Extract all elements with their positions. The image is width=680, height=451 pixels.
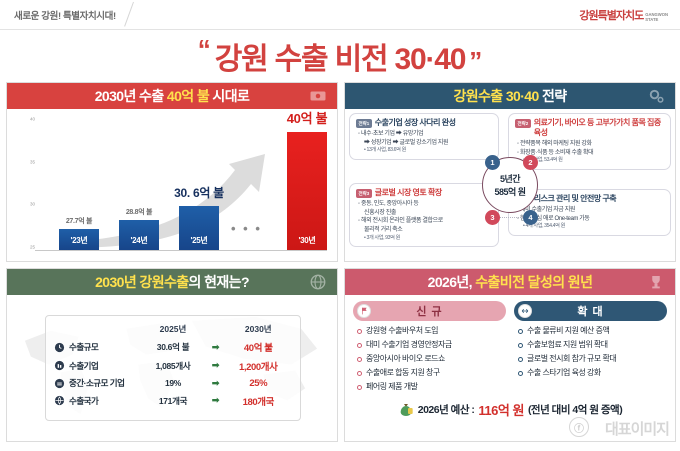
logo-en-line1: GANGWON: [645, 12, 668, 17]
strategy-bullet: ◦ 전략품목 해외 마케팅 지원 강화: [515, 140, 664, 149]
year2026-header-accent: 수출비전 달성의 원년: [475, 274, 592, 290]
chart-panel-header: 2030년 수출 40억 불 시대로: [7, 83, 337, 109]
table-row: 수출규모30.6억 불➡40억 불: [54, 340, 292, 354]
strategy-header-accent: 강원수출 30·40: [453, 88, 538, 104]
chart-header-text: 2030년 수출 40억 불 시대로: [95, 86, 250, 106]
quote-open-icon: “: [198, 40, 211, 58]
bar-value-label: 30. 6억 불: [164, 184, 234, 201]
chart-body: 40353025 '23년27.7억 불'24년28.8억 불'25년30. 6…: [7, 109, 337, 261]
watermark-text: 대표이미지: [605, 418, 669, 439]
strategy-badge: 전략3: [356, 189, 372, 198]
year2026-column-1: 신 규강원형 수출바우처 도입대미 수출기업 경영안정자금중앙아시아 바이오 로…: [353, 301, 506, 396]
strategy-bullet: • 4개 사업, 354.4억 원: [515, 223, 664, 231]
list-item: 수출 스타기업 육성 강화: [518, 368, 667, 378]
bullet-dot-icon: [357, 357, 362, 362]
chart-y-axis: 40353025: [15, 119, 35, 247]
panel-current-status: 2030년 강원수출의 현재는? 2025년 2030년 수출규모30.6억 불…: [6, 268, 338, 442]
row-goal-value: 180개국: [225, 394, 293, 408]
strategy-bullet: • 3개 사업, 93억 원: [356, 235, 492, 243]
strategy-badge: 전략1: [356, 119, 372, 128]
row-arrow-icon: ➡: [207, 342, 225, 353]
budget-amount: 116억 원: [478, 400, 524, 419]
bar-25y: '25년: [179, 206, 219, 250]
bar-value-label: 40억 불: [272, 108, 338, 127]
year2026-header-text: 2026년, 수출비전 달성의 원년: [428, 272, 593, 292]
flag-icon: [357, 304, 371, 318]
chart-header-suffix: 시대로: [209, 88, 249, 104]
page-title: “ 강원 수출 비전 30·40 ”: [0, 30, 680, 82]
page-title-text: 강원 수출 비전 30·40: [215, 34, 466, 78]
strategy-number-2: 2: [523, 155, 538, 170]
panel-grid: 2030년 수출 40억 불 시대로 40353025 '23년27.7억 불'…: [0, 82, 680, 442]
strategy-header-text: 강원수출 30·40 전략: [453, 86, 566, 106]
column-header-2: 확 대: [514, 301, 667, 321]
list-item: 중앙아시아 바이오 로드쇼: [357, 354, 506, 364]
list-item: 글로벌 전시회 참가 규모 확대: [518, 354, 667, 364]
expand-icon: [518, 304, 532, 318]
list-item: 강원형 수출바우처 도입: [357, 326, 506, 336]
list-item-label: 수출애로 합동 지원 창구: [366, 368, 440, 378]
row-arrow-icon: ➡: [207, 395, 225, 406]
watermark-mark: ⓕ: [569, 417, 589, 437]
budget-prefix: 2026년 예산 :: [418, 402, 475, 417]
list-item-label: 페어링 제품 개발: [366, 382, 417, 392]
current-header-suffix: 의 현재는?: [189, 274, 249, 290]
trophy-icon: [647, 273, 665, 291]
bullet-dot-icon: [518, 343, 523, 348]
column-title: 신 규: [416, 303, 442, 319]
strategy-bullet: 신흥시장 진출: [356, 209, 492, 218]
row-label-cell: 수출기업: [54, 360, 139, 372]
chart-icon: [54, 378, 65, 389]
logo-english-text: GANGWON STATE: [645, 12, 668, 24]
bullet-dot-icon: [518, 371, 523, 376]
clock-icon: [54, 342, 65, 353]
globe-icon: [309, 273, 327, 291]
strategy-number-3: 3: [485, 210, 500, 225]
list-item-label: 강원형 수출바우처 도입: [366, 326, 438, 336]
column-header-1: 신 규: [353, 301, 506, 321]
row-label-cell: 수출규모: [54, 341, 139, 353]
top-bar: 새로운 강원! 특별자치시대! 강원특별자치도 GANGWON STATE: [0, 0, 680, 30]
panel-strategy: 강원수출 30·40 전략 전략1수출기업 성장 사다리 완성◦ 내수·초보 기…: [344, 82, 676, 262]
ellipsis-marker: • • •: [231, 221, 262, 236]
bar-category-label: '24년: [119, 235, 159, 246]
bar-value-label: 28.8억 불: [104, 207, 174, 217]
year2026-columns: 신 규강원형 수출바우처 도입대미 수출기업 경영안정자금중앙아시아 바이오 로…: [353, 301, 667, 396]
center-circle-line1: 5년간: [500, 172, 520, 185]
list-item-label: 수출보험료 지원 범위 확대: [527, 340, 608, 350]
bar-category-label: '30년: [287, 235, 327, 246]
quote-close-icon: ”: [469, 52, 482, 70]
budget-suffix: (전년 대비 4억 원 증액): [528, 402, 622, 417]
row-current-value: 171개국: [139, 395, 207, 407]
list-item: 대미 수출기업 경영안정자금: [357, 340, 506, 350]
strategy-header-suffix: 전략: [539, 88, 567, 104]
row-label-text: 수출국가: [69, 395, 98, 407]
list-item-label: 중앙아시아 바이오 로드쇼: [366, 354, 445, 364]
year2026-body: 신 규강원형 수출바우처 도입대미 수출기업 경영안정자금중앙아시아 바이오 로…: [345, 295, 675, 441]
panel-2026: 2026년, 수출비전 달성의 원년 신 규강원형 수출바우처 도입대미 수출기…: [344, 268, 676, 442]
chart-plot-area: '23년27.7억 불'24년28.8억 불'25년30. 6억 불'30년40…: [35, 115, 327, 251]
current-header-text: 2030년 강원수출의 현재는?: [95, 272, 249, 292]
row-label-text: 중간·소규모 기업: [69, 377, 124, 389]
year2026-header-prefix: 2026년,: [428, 274, 476, 290]
strategy-title: 글로벌 시장 영토 확장: [375, 188, 442, 198]
bullet-dot-icon: [357, 343, 362, 348]
table-header-label: [54, 323, 139, 335]
strategy-bullet: ◦ 대미 수출기업 자금 지원: [515, 206, 664, 215]
strategy-number-4: 4: [523, 210, 538, 225]
factory-icon: [54, 360, 65, 371]
bar-30y: '30년: [287, 132, 327, 250]
strategy-bullet: 물리적 거리 축소: [356, 226, 492, 235]
strategy-badge: 전략2: [515, 119, 531, 128]
current-header-accent: 2030년 강원수출: [95, 274, 188, 290]
strategy-title: 리스크 관리 및 안전망 구축: [534, 194, 616, 204]
row-goal-value: 1,200개사: [225, 359, 293, 373]
row-goal-value: 40억 불: [225, 340, 293, 354]
row-label-cell: 중간·소규모 기업: [54, 377, 139, 389]
current-panel-header: 2030년 강원수출의 현재는?: [7, 269, 337, 295]
row-current-value: 19%: [139, 378, 207, 388]
bullet-dot-icon: [518, 329, 523, 334]
strategy-number-1: 1: [485, 155, 500, 170]
center-circle-line2: 585억 원: [494, 185, 525, 198]
divider-slash: [124, 2, 134, 27]
panel-export-chart: 2030년 수출 40억 불 시대로 40353025 '23년27.7억 불'…: [6, 82, 338, 262]
money-icon: [309, 87, 327, 105]
strategy-panel-header: 강원수출 30·40 전략: [345, 83, 675, 109]
list-item: 페어링 제품 개발: [357, 382, 506, 392]
bar-category-label: '25년: [179, 235, 219, 246]
bullet-dot-icon: [357, 329, 362, 334]
strategy-title: 수출기업 성장 사다리 완성: [375, 118, 456, 128]
table-header-now: 2025년: [139, 323, 207, 335]
bar-category-label: '23년: [59, 235, 99, 246]
moneybag-icon: [398, 402, 414, 418]
table-header-row: 2025년 2030년: [54, 323, 292, 335]
table-row: 중간·소규모 기업19%➡25%: [54, 377, 292, 389]
list-item-label: 글로벌 전시회 참가 규모 확대: [527, 354, 616, 364]
budget-line: 2026년 예산 : 116억 원 (전년 대비 4억 원 증액): [353, 400, 667, 419]
gangwon-logo: 강원특별자치도 GANGWON STATE: [579, 7, 668, 23]
bullet-dot-icon: [357, 371, 362, 376]
column-title: 확 대: [577, 303, 603, 319]
list-item: 수출보험료 지원 범위 확대: [518, 340, 667, 350]
strategy-title-row: 전략1수출기업 성장 사다리 완성: [356, 118, 492, 128]
strategy-card-3[interactable]: 전략3글로벌 시장 영토 확장◦ 중동, 인도, 중앙아시아 등신흥시장 진출◦…: [349, 183, 499, 247]
chart-header-prefix: 2030년 수출: [95, 88, 167, 104]
row-goal-value: 25%: [225, 378, 293, 389]
list-item-label: 수출 스타기업 육성 강화: [527, 368, 601, 378]
year2026-column-2: 확 대수출 물류비 지원 예산 증액수출보험료 지원 범위 확대글로벌 전시회 …: [514, 301, 667, 396]
bullet-dot-icon: [518, 357, 523, 362]
row-label-text: 수출규모: [69, 341, 98, 353]
strategy-title: 의료기기, 바이오 등 고부가가치 품목 집중 육성: [534, 118, 664, 138]
row-label-cell: 수출국가: [54, 395, 139, 407]
row-arrow-icon: ➡: [207, 360, 225, 371]
row-current-value: 1,085개사: [139, 360, 207, 372]
strategy-title-row: 전략2의료기기, 바이오 등 고부가가치 품목 집중 육성: [515, 118, 664, 138]
table-header-goal: 2030년: [225, 323, 293, 335]
list-item: 수출 물류비 지원 예산 증액: [518, 326, 667, 336]
tagline: 새로운 강원! 특별자치시대!: [14, 8, 116, 22]
bullet-dot-icon: [357, 385, 362, 390]
strategy-title-row: 전략4리스크 관리 및 안전망 구축: [515, 194, 664, 204]
row-label-text: 수출기업: [69, 360, 98, 372]
row-current-value: 30.6억 불: [139, 341, 207, 353]
table-header-arrow-spacer: [207, 323, 225, 335]
current-body: 2025년 2030년 수출규모30.6억 불➡40억 불수출기업1,085개사…: [7, 295, 337, 441]
strategy-card-1[interactable]: 전략1수출기업 성장 사다리 완성◦ 내수·초보 기업 ➡ 유망기업➡ 성장기업…: [349, 113, 499, 160]
row-arrow-icon: ➡: [207, 378, 225, 389]
logo-korean-text: 강원특별자치도: [579, 7, 643, 23]
table-row: 수출기업1,085개사➡1,200개사: [54, 359, 292, 373]
list-item-label: 수출 물류비 지원 예산 증액: [527, 326, 609, 336]
chart-header-accent: 40억 불: [167, 88, 209, 104]
strategy-bullet: • 13개 사업, 83.6억 원: [356, 147, 492, 155]
gear-icon: [647, 87, 665, 105]
table-row: 수출국가171개국➡180개국: [54, 394, 292, 408]
bar-24y: '24년: [119, 220, 159, 250]
strategy-title-row: 전략3글로벌 시장 영토 확장: [356, 188, 492, 198]
strategy-bullet: ◦ 중동, 인도, 중앙아시아 등: [356, 200, 492, 209]
bar-23y: '23년: [59, 229, 99, 250]
year2026-panel-header: 2026년, 수출비전 달성의 원년: [345, 269, 675, 295]
globe2-icon: [54, 395, 65, 406]
bar-value-label: 27.7억 불: [44, 216, 114, 226]
strategy-body: 전략1수출기업 성장 사다리 완성◦ 내수·초보 기업 ➡ 유망기업➡ 성장기업…: [345, 109, 675, 261]
list-item: 수출애로 합동 지원 창구: [357, 368, 506, 378]
list-item-label: 대미 수출기업 경영안정자금: [366, 340, 452, 350]
status-table: 2025년 2030년 수출규모30.6억 불➡40억 불수출기업1,085개사…: [45, 315, 301, 421]
strategy-bullet: ◦ 내수·초보 기업 ➡ 유망기업: [356, 130, 492, 139]
logo-en-line2: STATE: [645, 17, 658, 22]
strategy-bullet: ◦ 해외 전시회 온라인 플랫폼 결합으로: [356, 217, 492, 226]
